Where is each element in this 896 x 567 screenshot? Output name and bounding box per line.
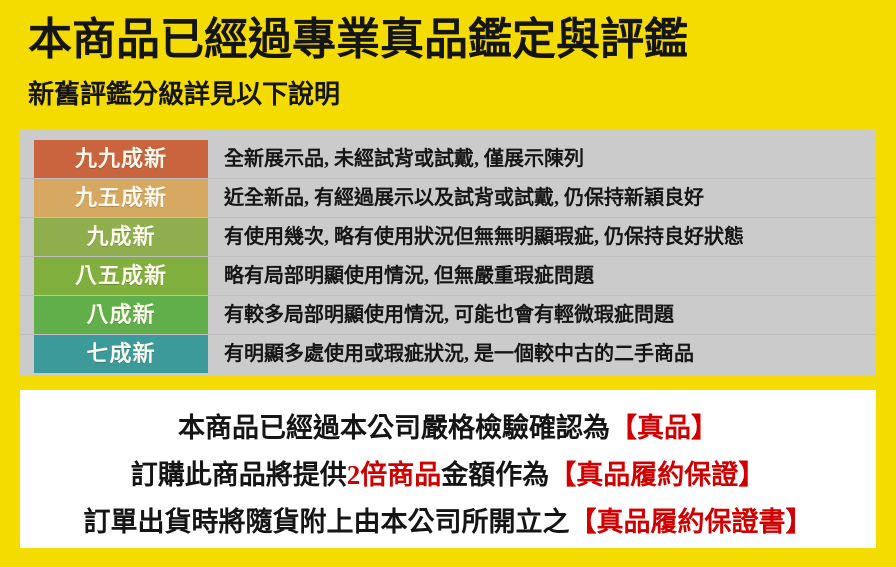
table-row: 九五成新近全新品, 有經過展示以及試背或試戴, 仍保持新穎良好 [20, 179, 876, 218]
grade-badge: 八成新 [34, 296, 208, 334]
grade-badge: 九成新 [34, 218, 208, 256]
grade-table: 九九成新全新展示品, 未經試背或試戴, 僅展示陳列九五成新近全新品, 有經過展示… [20, 130, 876, 375]
table-row: 八成新有較多局部明顯使用情況, 可能也會有輕微瑕疵問題 [20, 296, 876, 335]
page-title: 本商品已經過專業真品鑑定與評鑑 [28, 18, 688, 62]
guarantee-line-3: 訂單出貨時將隨貨附上由本公司所開立之【真品履約保證書】 [20, 509, 876, 536]
grade-description: 有較多局部明顯使用情況, 可能也會有輕微瑕疵問題 [208, 296, 876, 334]
guarantee-line-1: 本商品已經過本公司嚴格檢驗確認為【真品】 [20, 415, 876, 442]
grade-table-body: 九九成新全新展示品, 未經試背或試戴, 僅展示陳列九五成新近全新品, 有經過展示… [20, 140, 876, 373]
guarantee-line-3-highlight: 【真品履約保證書】 [570, 507, 813, 537]
grade-description: 有明顯多處使用或瑕疵狀況, 是一個較中古的二手商品 [208, 335, 876, 373]
guarantee-line-2-highlight-multiplier: 2倍商品 [347, 460, 442, 490]
table-row: 八五成新略有局部明顯使用情況, 但無嚴重瑕疵問題 [20, 257, 876, 296]
grade-description: 全新展示品, 未經試背或試戴, 僅展示陳列 [208, 140, 876, 178]
poster-header: 本商品已經過專業真品鑑定與評鑑 新舊評鑑分級詳見以下說明 [0, 0, 896, 130]
grade-badge: 九五成新 [34, 179, 208, 217]
guarantee-line-2-text: 訂購此商品將提供 [131, 460, 347, 490]
page-subtitle: 新舊評鑑分級詳見以下說明 [28, 82, 340, 108]
guarantee-line-2: 訂購此商品將提供2倍商品金額作為【真品履約保證】 [20, 462, 876, 489]
table-row: 七成新有明顯多處使用或瑕疵狀況, 是一個較中古的二手商品 [20, 335, 876, 373]
grade-badge: 七成新 [34, 335, 208, 373]
grade-description: 近全新品, 有經過展示以及試背或試戴, 仍保持新穎良好 [208, 179, 876, 217]
grade-description: 有使用幾次, 略有使用狀況但無無明顯瑕疵, 仍保持良好狀態 [208, 218, 876, 256]
guarantee-line-1-text: 本商品已經過本公司嚴格檢驗確認為 [178, 413, 610, 443]
table-row: 九成新有使用幾次, 略有使用狀況但無無明顯瑕疵, 仍保持良好狀態 [20, 218, 876, 257]
table-row: 九九成新全新展示品, 未經試背或試戴, 僅展示陳列 [20, 140, 876, 179]
grade-badge: 九九成新 [34, 140, 208, 178]
guarantee-line-2-highlight: 【真品履約保證】 [549, 460, 765, 490]
guarantee-line-2-text-mid: 金額作為 [441, 460, 549, 490]
grade-badge: 八五成新 [34, 257, 208, 295]
guarantee-panel: 本商品已經過本公司嚴格檢驗確認為【真品】 訂購此商品將提供2倍商品金額作為【真品… [20, 390, 876, 548]
promo-poster: 本商品已經過專業真品鑑定與評鑑 新舊評鑑分級詳見以下說明 九九成新全新展示品, … [0, 0, 896, 567]
guarantee-line-1-highlight: 【真品】 [610, 413, 718, 443]
grade-description: 略有局部明顯使用情況, 但無嚴重瑕疵問題 [208, 257, 876, 295]
guarantee-line-3-text: 訂單出貨時將隨貨附上由本公司所開立之 [84, 507, 570, 537]
